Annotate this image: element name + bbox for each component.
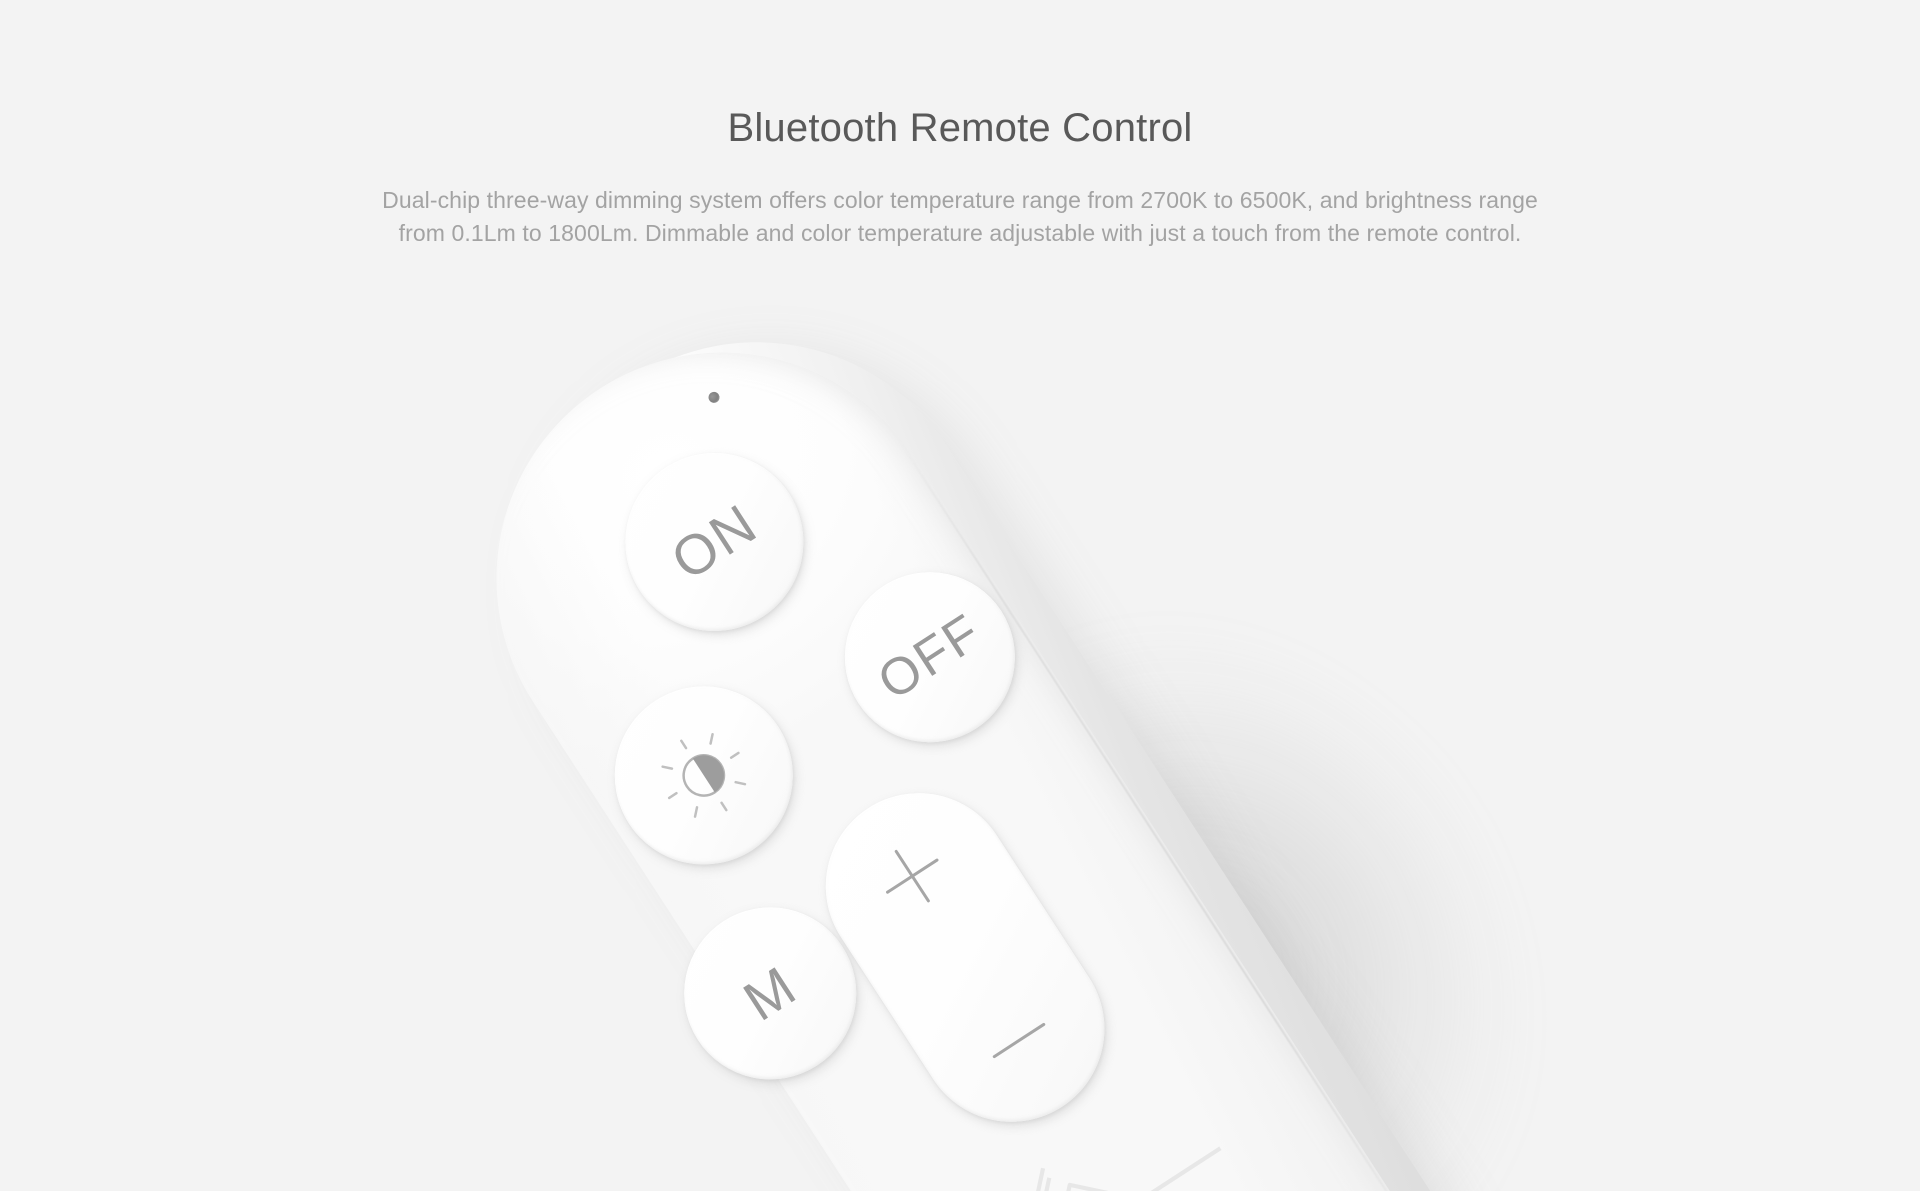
plus-icon[interactable] xyxy=(869,833,955,919)
minus-icon[interactable] xyxy=(976,998,1062,1084)
remote-control-device: ON OFF xyxy=(410,256,1447,1191)
power-off-label: OFF xyxy=(870,605,991,709)
led-indicator xyxy=(706,390,721,405)
page-description: Dual-chip three-way dimming system offer… xyxy=(370,152,1550,249)
page-title: Bluetooth Remote Control xyxy=(0,0,1920,152)
section-copy: Bluetooth Remote Control Dual-chip three… xyxy=(0,0,1920,249)
brightness-sun-icon xyxy=(637,709,770,842)
mode-label: M xyxy=(735,957,806,1030)
remote-top-face: ON OFF xyxy=(410,266,1426,1191)
minus-bar xyxy=(992,1022,1046,1058)
plus-bar-vertical xyxy=(894,849,930,903)
power-on-button[interactable]: ON xyxy=(591,419,837,665)
power-on-label: ON xyxy=(662,495,766,590)
brightness-button[interactable] xyxy=(581,652,827,898)
product-showcase-section: Bluetooth Remote Control Dual-chip three… xyxy=(0,0,1920,1191)
